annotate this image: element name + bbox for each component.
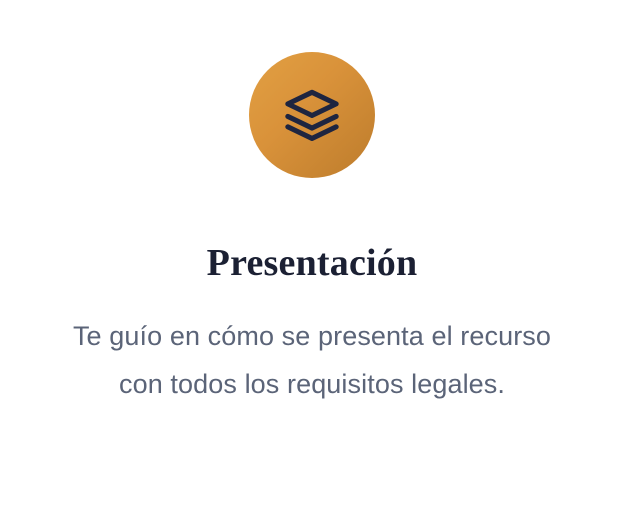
page-title: Presentación (207, 178, 418, 282)
icon-badge (249, 52, 375, 178)
feature-card: Presentación Te guío en cómo se presenta… (0, 0, 624, 510)
layers-icon (283, 86, 341, 144)
card-description: Te guío en cómo se presenta el recurso c… (66, 282, 558, 408)
